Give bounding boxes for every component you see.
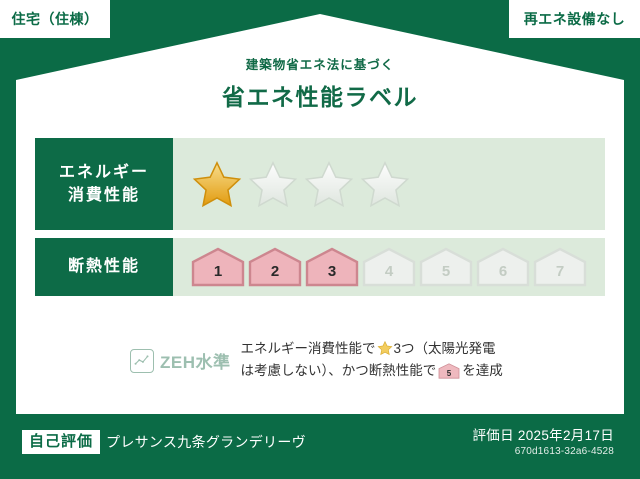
insulation-level-value: 4 — [385, 263, 393, 287]
energy-performance-row: エネルギー 消費性能 — [35, 138, 605, 230]
zeh-description-line1: エネルギー消費性能で3つ（太陽光発電 — [241, 338, 503, 360]
energy-performance-label: 住宅（住棟） 再エネ設備なし 建築物省エネ法に基づく 省エネ性能ラベル エネルギ… — [0, 0, 640, 479]
zeh-description-line2: は考慮しない）、かつ断熱性能で5を達成 — [241, 360, 503, 382]
inline-star-icon — [377, 340, 393, 356]
property-name: プレサンス九条グランデリーヴ — [106, 432, 306, 452]
zeh-desc-text-c: は考慮しない）、かつ断熱性能で — [241, 363, 437, 378]
footer-right-group: 評価日 2025年2月17日 670d1613-32a6-4528 — [472, 424, 614, 457]
energy-performance-label: エネルギー 消費性能 — [35, 138, 173, 230]
renewable-equipment-tag: 再エネ設備なし — [509, 0, 640, 38]
performance-rows: エネルギー 消費性能 断熱性能 1234567 — [35, 138, 605, 304]
label-subtitle: 建築物省エネ法に基づく — [0, 54, 640, 73]
dwelling-type-tag: 住宅（住棟） — [0, 0, 110, 38]
energy-performance-value — [173, 138, 605, 230]
insulation-level-scale: 1234567 — [191, 247, 587, 287]
insulation-level-chip-2: 2 — [248, 247, 302, 287]
star-filled-icon — [191, 158, 243, 210]
insulation-level-chip-1: 1 — [191, 247, 245, 287]
inline-level-chip-value: 5 — [447, 369, 452, 378]
evaluation-date: 評価日 2025年2月17日 — [472, 424, 614, 444]
zeh-desc-text-b: 3つ（太陽光発電 — [394, 341, 496, 356]
label-footer: 自己評価 プレサンス九条グランデリーヴ 評価日 2025年2月17日 670d1… — [0, 414, 640, 479]
evaluation-id: 670d1613-32a6-4528 — [472, 446, 614, 457]
insulation-level-chip-7: 7 — [533, 247, 587, 287]
footer-left-group: 自己評価 プレサンス九条グランデリーヴ — [22, 430, 306, 454]
inline-level-chip-icon: 5 — [438, 363, 460, 379]
star-empty-icon — [247, 158, 299, 210]
insulation-level-value: 5 — [442, 263, 450, 287]
insulation-level-value: 7 — [556, 263, 564, 287]
insulation-level-chip-5: 5 — [419, 247, 473, 287]
insulation-performance-value: 1234567 — [173, 238, 605, 296]
insulation-label-line1: 断熱性能 — [68, 255, 140, 278]
insulation-performance-label: 断熱性能 — [35, 238, 173, 296]
chart-scatter-icon — [130, 349, 154, 373]
insulation-level-value: 6 — [499, 263, 507, 287]
zeh-standard-note: ZEH水準 エネルギー消費性能で3つ（太陽光発電 は考慮しない）、かつ断熱性能で… — [130, 338, 503, 383]
star-empty-icon — [359, 158, 411, 210]
insulation-performance-row: 断熱性能 1234567 — [35, 238, 605, 296]
insulation-level-chip-3: 3 — [305, 247, 359, 287]
energy-label-line1: エネルギー — [59, 161, 149, 184]
insulation-level-value: 3 — [328, 263, 336, 287]
label-header: 建築物省エネ法に基づく 省エネ性能ラベル — [0, 54, 640, 112]
insulation-level-chip-4: 4 — [362, 247, 416, 287]
star-empty-icon — [303, 158, 355, 210]
zeh-desc-text-a: エネルギー消費性能で — [241, 341, 376, 356]
energy-label-line2: 消費性能 — [68, 184, 140, 207]
zeh-description: エネルギー消費性能で3つ（太陽光発電 は考慮しない）、かつ断熱性能で5を達成 — [241, 338, 503, 383]
zeh-label: ZEH水準 — [160, 348, 231, 373]
insulation-level-value: 1 — [214, 263, 222, 287]
insulation-level-chip-6: 6 — [476, 247, 530, 287]
star-rating — [191, 158, 411, 210]
zeh-desc-text-d: を達成 — [462, 363, 503, 378]
zeh-badge: ZEH水準 — [130, 338, 231, 373]
insulation-level-value: 2 — [271, 263, 279, 287]
self-evaluation-badge: 自己評価 — [22, 430, 100, 454]
page-title: 省エネ性能ラベル — [0, 78, 640, 112]
